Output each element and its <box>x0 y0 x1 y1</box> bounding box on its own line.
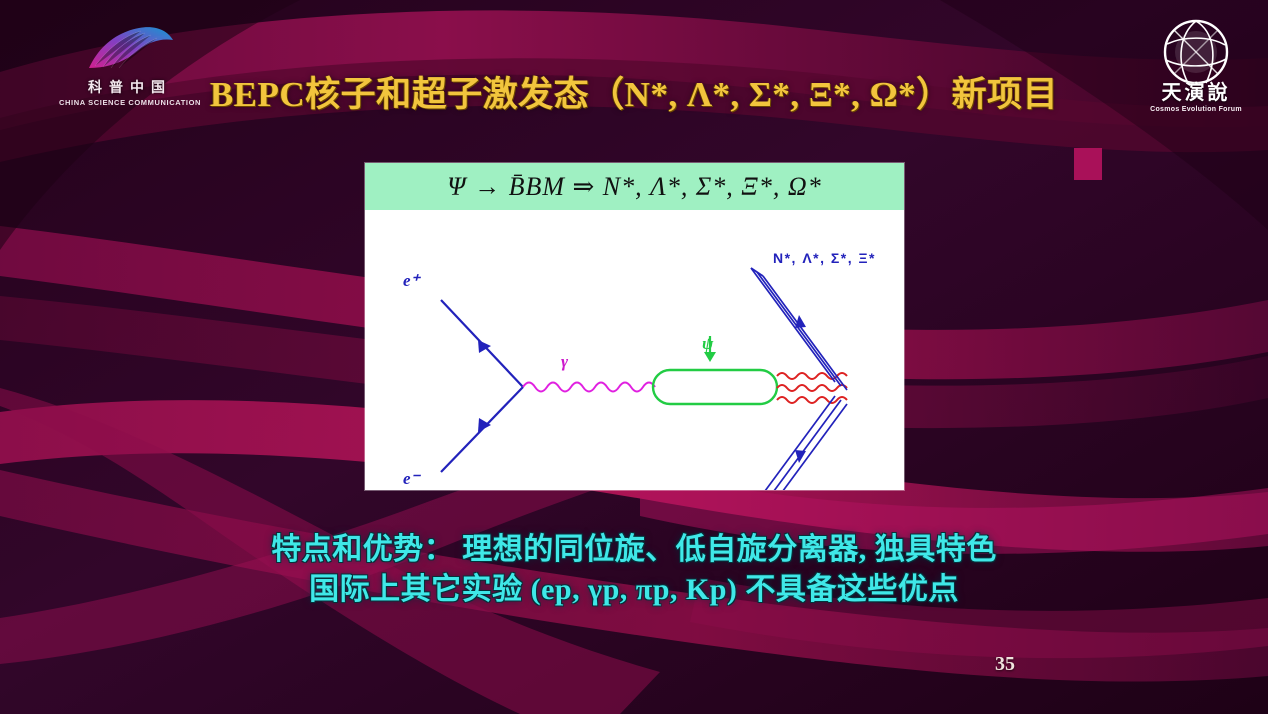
caption-block: 特点和优势： 理想的同位旋、低自旋分离器, 独具特色 国际上其它实验 (ep, … <box>0 530 1268 610</box>
accent-square <box>1074 148 1102 180</box>
figure-equation-banner: Ψ → B̄BM ⇒ N*, Λ*, Σ*, Ξ*, Ω* <box>365 163 904 210</box>
caption-line-2: 国际上其它实验 (ep, γp, πp, Kp) 不具备这些优点 <box>0 570 1268 610</box>
slide-root: 科普中国 CHINA SCIENCE COMMUNICATION 天演說 Cos… <box>0 0 1268 714</box>
electron-label: e⁻ <box>403 469 422 488</box>
page-number: 35 <box>995 653 1015 676</box>
figure-card: Ψ → B̄BM ⇒ N*, Λ*, Σ*, Ξ*, Ω* γ ψ <box>365 163 904 490</box>
svg-text:ψ: ψ <box>702 334 714 353</box>
products-top-label: N*, Λ*, Σ*, Ξ* <box>773 250 876 266</box>
caption-line-1: 特点和优势： 理想的同位旋、低自旋分离器, 独具特色 <box>0 530 1268 570</box>
feynman-diagram: γ ψ <box>365 210 904 490</box>
figure-equation-text: Ψ → B̄BM ⇒ N*, Λ*, Σ*, Ξ*, Ω* <box>447 172 821 202</box>
page-title: BEPC核子和超子激发态（N*, Λ*, Σ*, Ξ*, Ω*）新项目 <box>0 66 1268 117</box>
positron-label: e⁺ <box>403 271 422 290</box>
photon-label: γ <box>561 352 569 371</box>
